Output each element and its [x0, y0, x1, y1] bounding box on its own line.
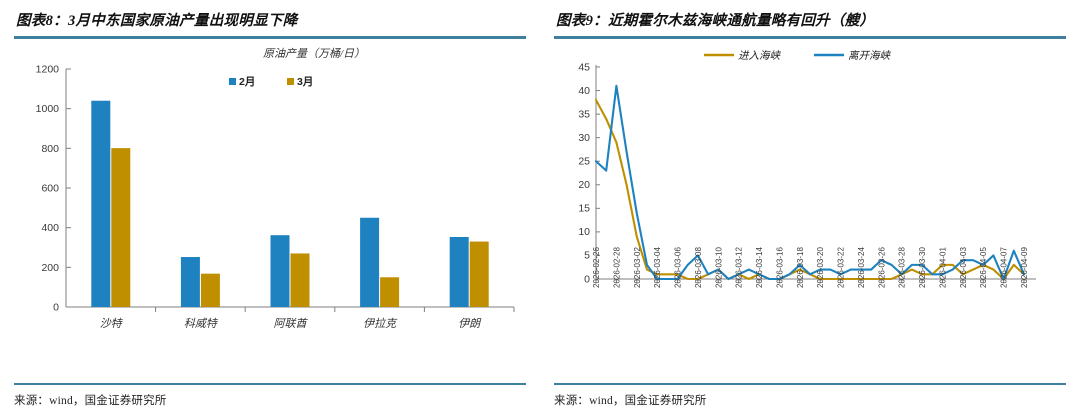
x-tick-label-0: 2026-02-26 — [592, 246, 601, 287]
figure-8-chart: 原油产量（万桶/日）2月3月020040060080010001200沙特科威特… — [14, 39, 526, 357]
y-tick-label-5: 25 — [578, 155, 590, 167]
y-tick-label-6: 1200 — [36, 63, 60, 75]
x-tick-label-8: 2026-03-14 — [755, 246, 764, 287]
y-tick-label-0: 0 — [584, 273, 590, 285]
x-category-label-2: 阿联酋 — [274, 317, 309, 330]
bar-科威特-2月 — [181, 257, 200, 307]
y-tick-label-6: 30 — [578, 131, 590, 143]
y-tick-label-3: 15 — [578, 202, 590, 214]
y-tick-label-4: 20 — [578, 179, 590, 191]
x-category-label-4: 伊朗 — [458, 317, 482, 330]
x-tick-label-9: 2026-03-16 — [775, 246, 784, 287]
line-chart-svg: 进入海峡离开海峡0510152025303540452026-02-262026… — [554, 39, 1066, 357]
y-tick-label-0: 0 — [53, 301, 59, 313]
legend-label-1: 进入海峡 — [738, 50, 781, 62]
x-tick-label-11: 2026-03-20 — [816, 246, 825, 287]
x-tick-label-17: 2026-04-01 — [938, 246, 947, 287]
figure-9-footer: 来源：wind，国金证券研究所 — [554, 383, 1066, 408]
x-tick-label-15: 2026-03-28 — [898, 246, 907, 287]
bar-伊朗-2月 — [450, 236, 469, 306]
y-tick-label-1: 5 — [584, 249, 590, 261]
bar-阿联酋-3月 — [291, 253, 310, 307]
x-tick-label-19: 2026-04-05 — [979, 246, 988, 287]
figure-8-title: 图表8：3月中东国家原油产量出现明显下降 — [14, 0, 526, 36]
x-category-label-1: 科威特 — [184, 317, 219, 330]
figure-9-panel: 图表9：近期霍尔木兹海峡通航量略有回升（艘） 进入海峡离开海峡051015202… — [540, 0, 1080, 414]
x-tick-label-7: 2026-03-12 — [735, 246, 744, 287]
x-tick-label-16: 2026-03-30 — [918, 246, 927, 287]
figure-9-title: 图表9：近期霍尔木兹海峡通航量略有回升（艘） — [554, 0, 1066, 36]
x-category-label-3: 伊拉克 — [363, 317, 398, 330]
figure-9-source: 来源：wind，国金证券研究所 — [554, 385, 1066, 408]
x-tick-label-1: 2026-02-28 — [612, 246, 621, 287]
y-tick-label-2: 400 — [41, 222, 59, 234]
legend-swatch-2 — [287, 78, 294, 85]
x-tick-label-18: 2026-04-03 — [959, 246, 968, 287]
x-tick-label-10: 2026-03-18 — [796, 246, 805, 287]
bar-chart-title: 原油产量（万桶/日） — [263, 47, 365, 60]
bar-伊拉克-3月 — [380, 277, 399, 307]
bar-科威特-3月 — [201, 273, 220, 306]
y-tick-label-2: 10 — [578, 226, 590, 238]
legend-swatch-1 — [229, 78, 236, 85]
x-tick-label-6: 2026-03-10 — [714, 246, 723, 287]
x-tick-label-4: 2026-03-06 — [674, 246, 683, 287]
figure-8-footer: 来源：wind，国金证券研究所 — [14, 383, 526, 408]
figure-8-panel: 图表8：3月中东国家原油产量出现明显下降 原油产量（万桶/日）2月3月02004… — [0, 0, 540, 414]
bar-伊拉克-2月 — [360, 217, 379, 306]
bar-沙特-2月 — [91, 100, 110, 306]
y-tick-label-8: 40 — [578, 84, 590, 96]
figure-9-chart: 进入海峡离开海峡0510152025303540452026-02-262026… — [554, 39, 1066, 357]
bar-chart-svg: 原油产量（万桶/日）2月3月020040060080010001200沙特科威特… — [14, 39, 526, 357]
x-tick-label-2: 2026-03-02 — [633, 246, 642, 287]
x-category-label-0: 沙特 — [100, 317, 124, 330]
x-tick-label-14: 2026-03-26 — [877, 246, 886, 287]
x-tick-label-20: 2026-04-07 — [1000, 246, 1009, 287]
figures-page: 图表8：3月中东国家原油产量出现明显下降 原油产量（万桶/日）2月3月02004… — [0, 0, 1080, 414]
x-tick-label-5: 2026-03-08 — [694, 246, 703, 287]
y-tick-label-7: 35 — [578, 108, 590, 120]
x-tick-label-3: 2026-03-04 — [653, 246, 662, 287]
bar-伊朗-3月 — [470, 241, 489, 306]
y-tick-label-4: 800 — [41, 142, 59, 154]
y-tick-label-1: 200 — [41, 261, 59, 273]
y-tick-label-5: 1000 — [36, 103, 60, 115]
legend-label-2: 离开海峡 — [848, 50, 891, 62]
x-tick-label-12: 2026-03-22 — [837, 246, 846, 287]
x-tick-label-21: 2026-04-09 — [1020, 246, 1029, 287]
figure-8-source: 来源：wind，国金证券研究所 — [14, 385, 526, 408]
y-tick-label-3: 600 — [41, 182, 59, 194]
bar-阿联酋-2月 — [271, 235, 290, 307]
bar-沙特-3月 — [111, 148, 130, 307]
legend-label-1: 2月 — [239, 76, 255, 88]
legend-label-2: 3月 — [297, 76, 313, 88]
x-tick-label-13: 2026-03-24 — [857, 246, 866, 287]
y-tick-label-9: 45 — [578, 61, 590, 73]
